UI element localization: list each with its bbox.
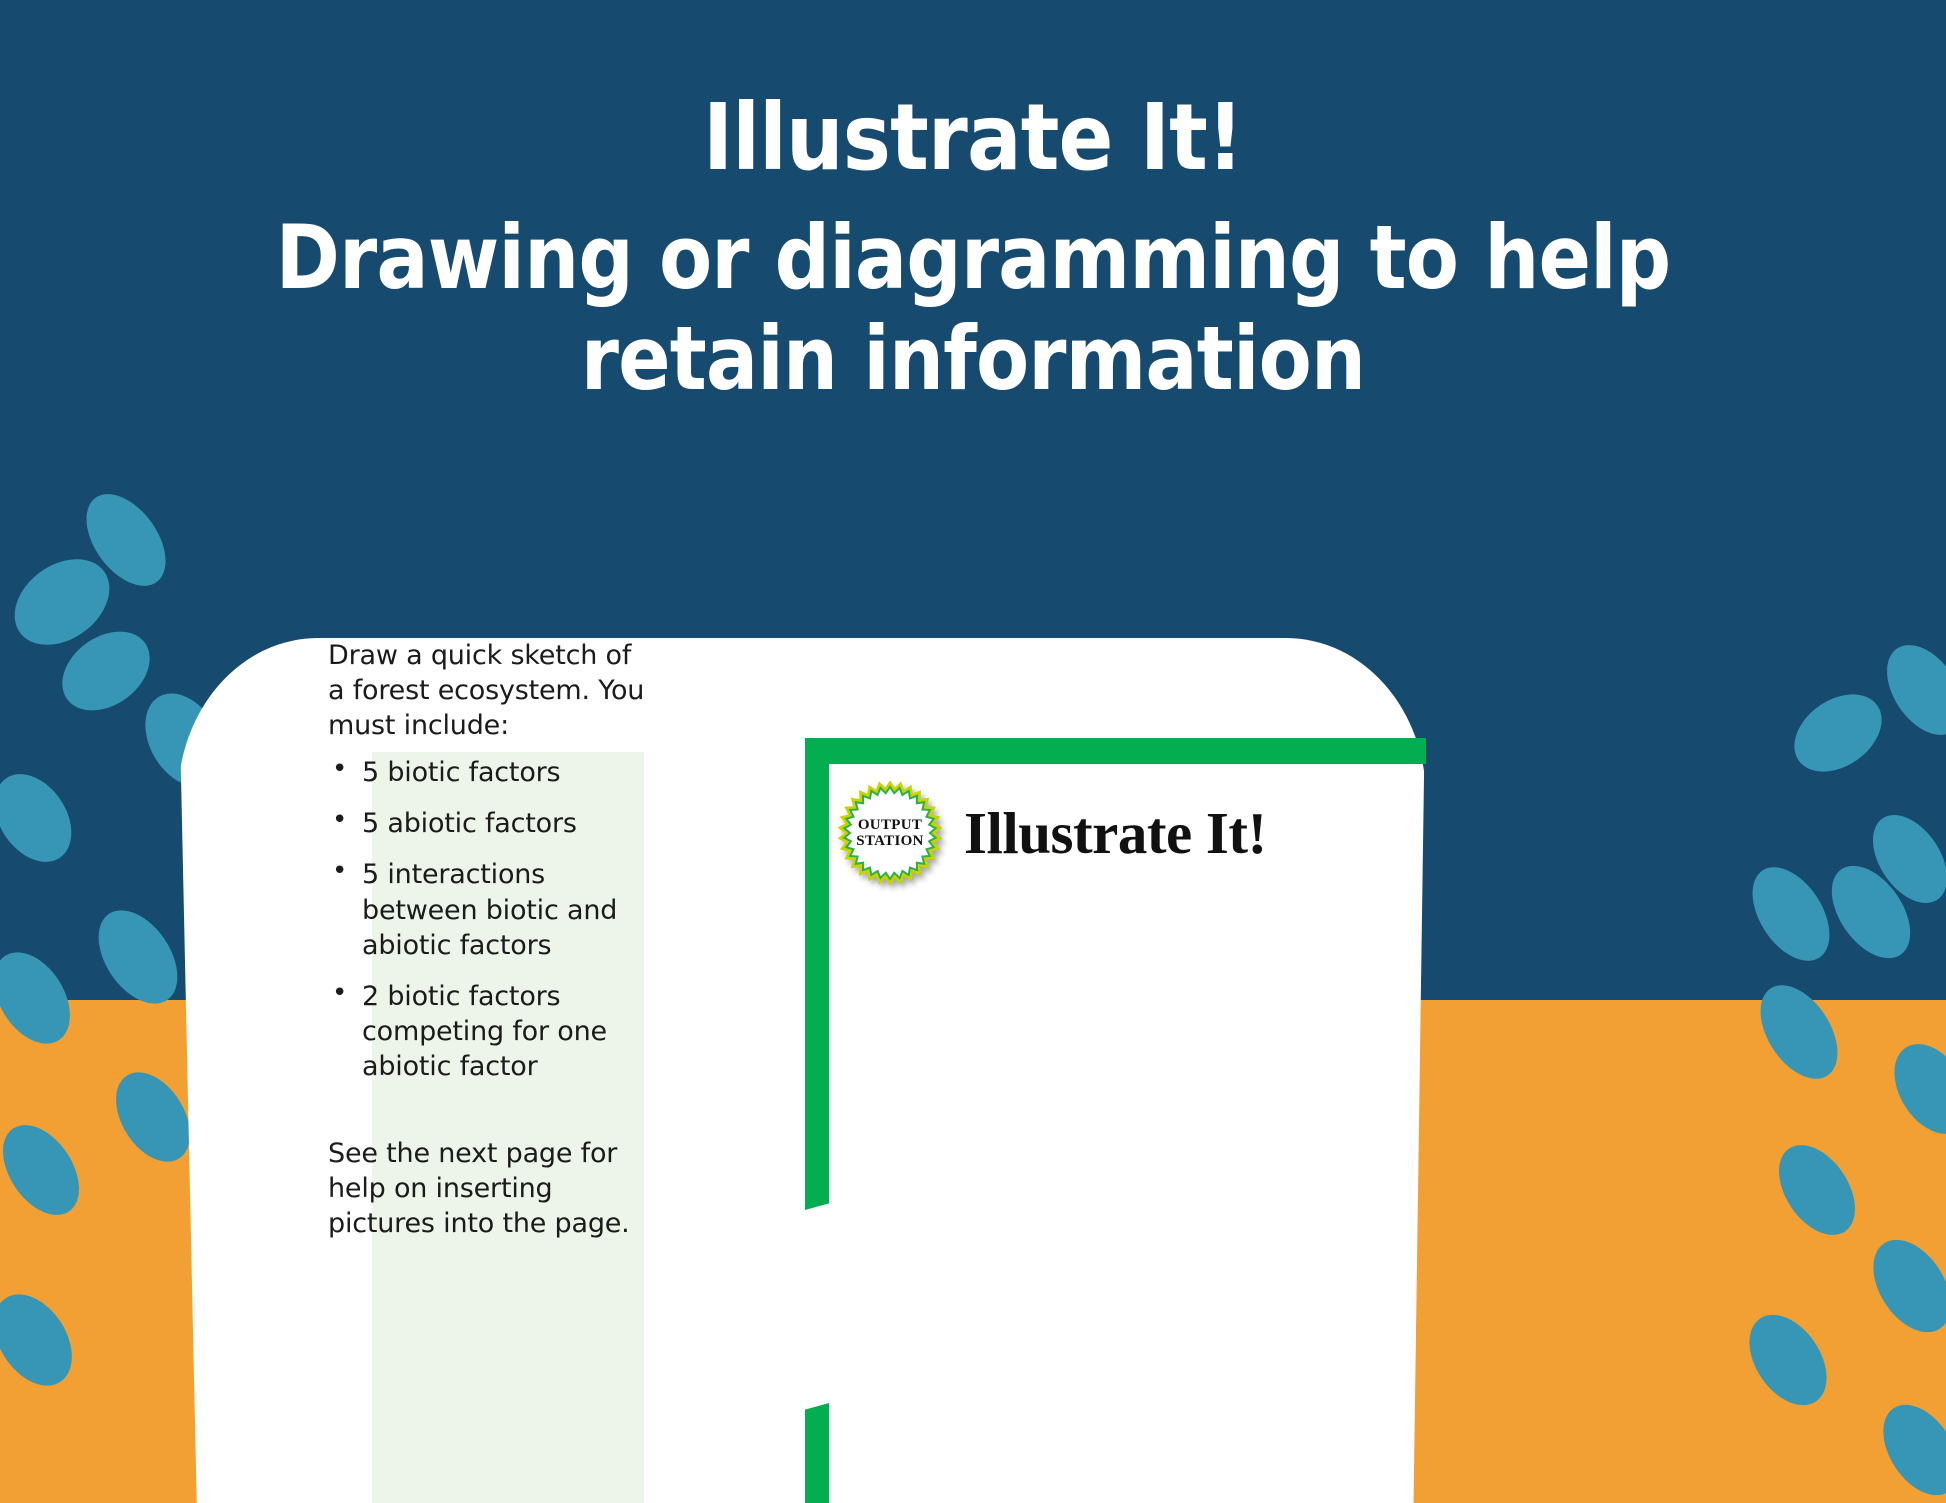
requirement-item: 2 biotic factors competing for one abiot… [328, 979, 648, 1084]
slide-subtitle: Drawing or diagramming to help retain in… [117, 207, 1829, 409]
document-header: OUTPUT STATION Illustrate It! [838, 778, 1426, 888]
document-heading: Illustrate It! [964, 799, 1267, 868]
requirement-item: 5 abiotic factors [328, 806, 648, 841]
slide-canvas: Illustrate It! Drawing or diagramming to… [0, 0, 1946, 1503]
green-divider-lower [805, 1415, 829, 1503]
output-station-badge: OUTPUT STATION [838, 781, 942, 885]
requirement-item: 5 interactions between biotic and abioti… [328, 857, 648, 962]
instructions-text: Draw a quick sketch of a forest ecosyste… [328, 638, 648, 1241]
badge-label: OUTPUT STATION [838, 781, 942, 885]
instructions-note: See the next page for help on inserting … [328, 1136, 648, 1241]
badge-line-2: STATION [856, 833, 923, 849]
document-content: OUTPUT STATION Illustrate It! Draw a qui… [178, 638, 1426, 1503]
green-header-rule [806, 738, 1426, 764]
requirements-list: 5 biotic factors5 abiotic factors5 inter… [328, 755, 648, 1084]
green-divider-upper [805, 738, 829, 1198]
slide-title: Illustrate It! [117, 86, 1829, 189]
badge-line-1: OUTPUT [858, 817, 922, 833]
requirement-item: 5 biotic factors [328, 755, 648, 790]
headings-group: Illustrate It! Drawing or diagramming to… [0, 86, 1946, 409]
instructions-lead: Draw a quick sketch of a forest ecosyste… [328, 638, 648, 743]
